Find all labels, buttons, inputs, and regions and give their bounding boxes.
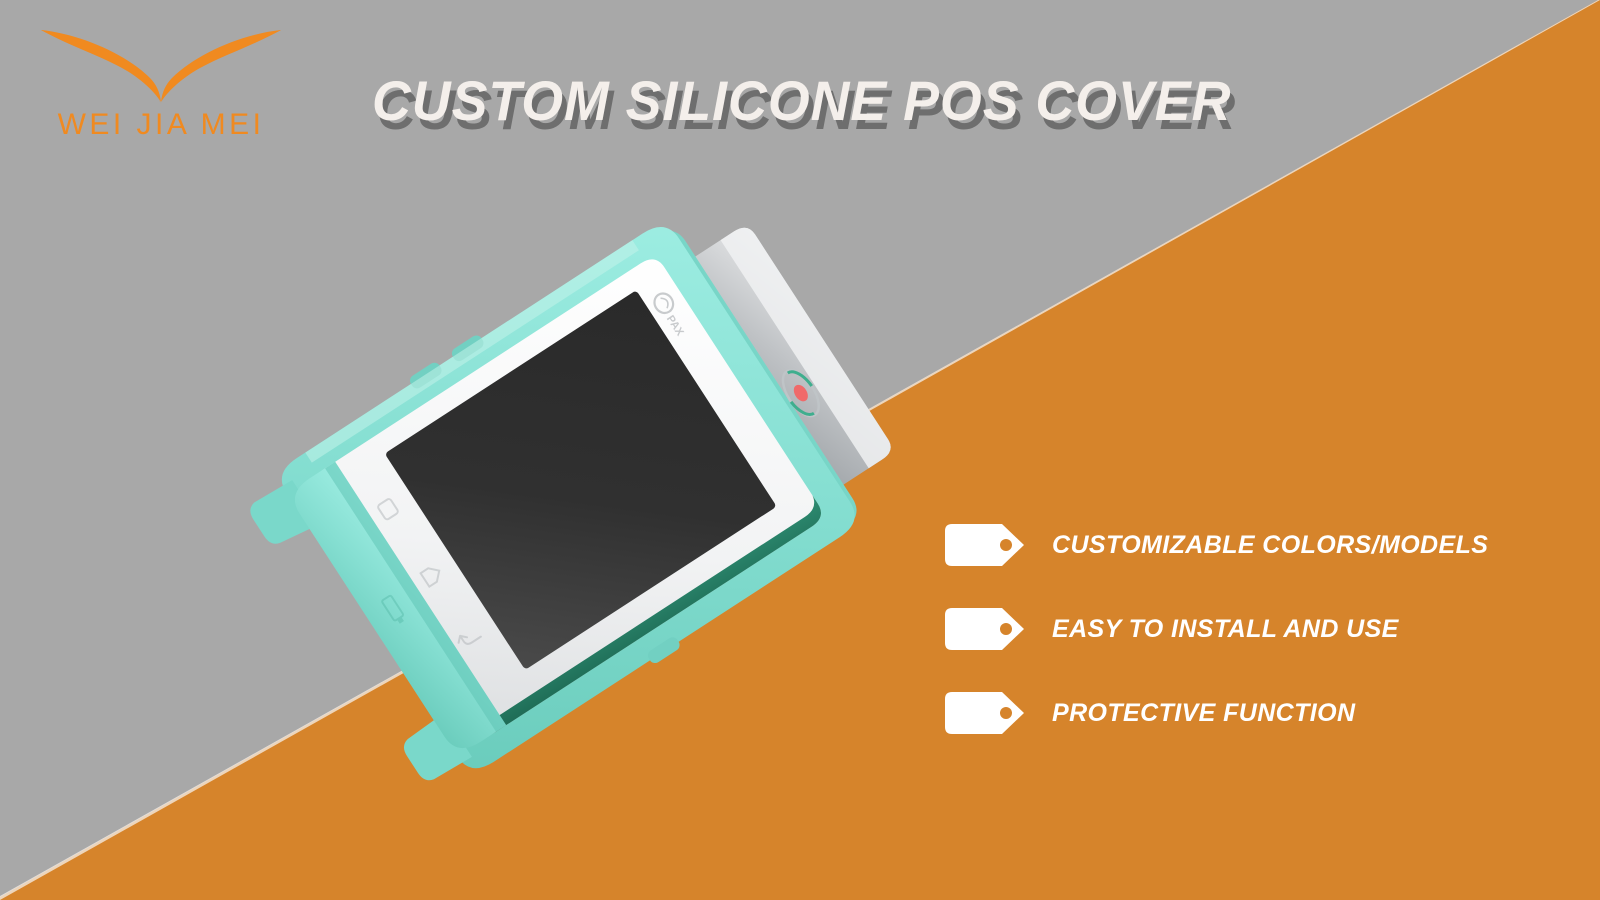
price-tag-icon bbox=[944, 523, 1026, 567]
feature-item-2[interactable]: EASY TO INSTALL AND USE bbox=[944, 603, 1564, 655]
product-image: PAX bbox=[250, 190, 910, 790]
marketing-banner: WEI JIA MEI CUSTOM SILICONE POS COVER bbox=[0, 0, 1600, 900]
feature-item-1-label: CUSTOMIZABLE COLORS/MODELS bbox=[1052, 531, 1488, 560]
feature-item-2-label: EASY TO INSTALL AND USE bbox=[1052, 615, 1399, 644]
page-title: CUSTOM SILICONE POS COVER bbox=[372, 72, 1231, 131]
brand-name-text: WEI JIA MEI bbox=[36, 108, 286, 142]
wings-logo-icon bbox=[36, 18, 286, 106]
feature-item-3[interactable]: PROTECTIVE FUNCTION bbox=[944, 687, 1564, 739]
feature-item-3-label: PROTECTIVE FUNCTION bbox=[1052, 699, 1355, 728]
feature-list: CUSTOMIZABLE COLORS/MODELS EASY TO INSTA… bbox=[944, 519, 1564, 739]
pos-terminal-illustration: PAX bbox=[250, 190, 910, 790]
price-tag-icon bbox=[944, 607, 1026, 651]
brand-logo: WEI JIA MEI bbox=[36, 18, 286, 148]
price-tag-icon bbox=[944, 691, 1026, 735]
feature-item-1[interactable]: CUSTOMIZABLE COLORS/MODELS bbox=[944, 519, 1564, 571]
